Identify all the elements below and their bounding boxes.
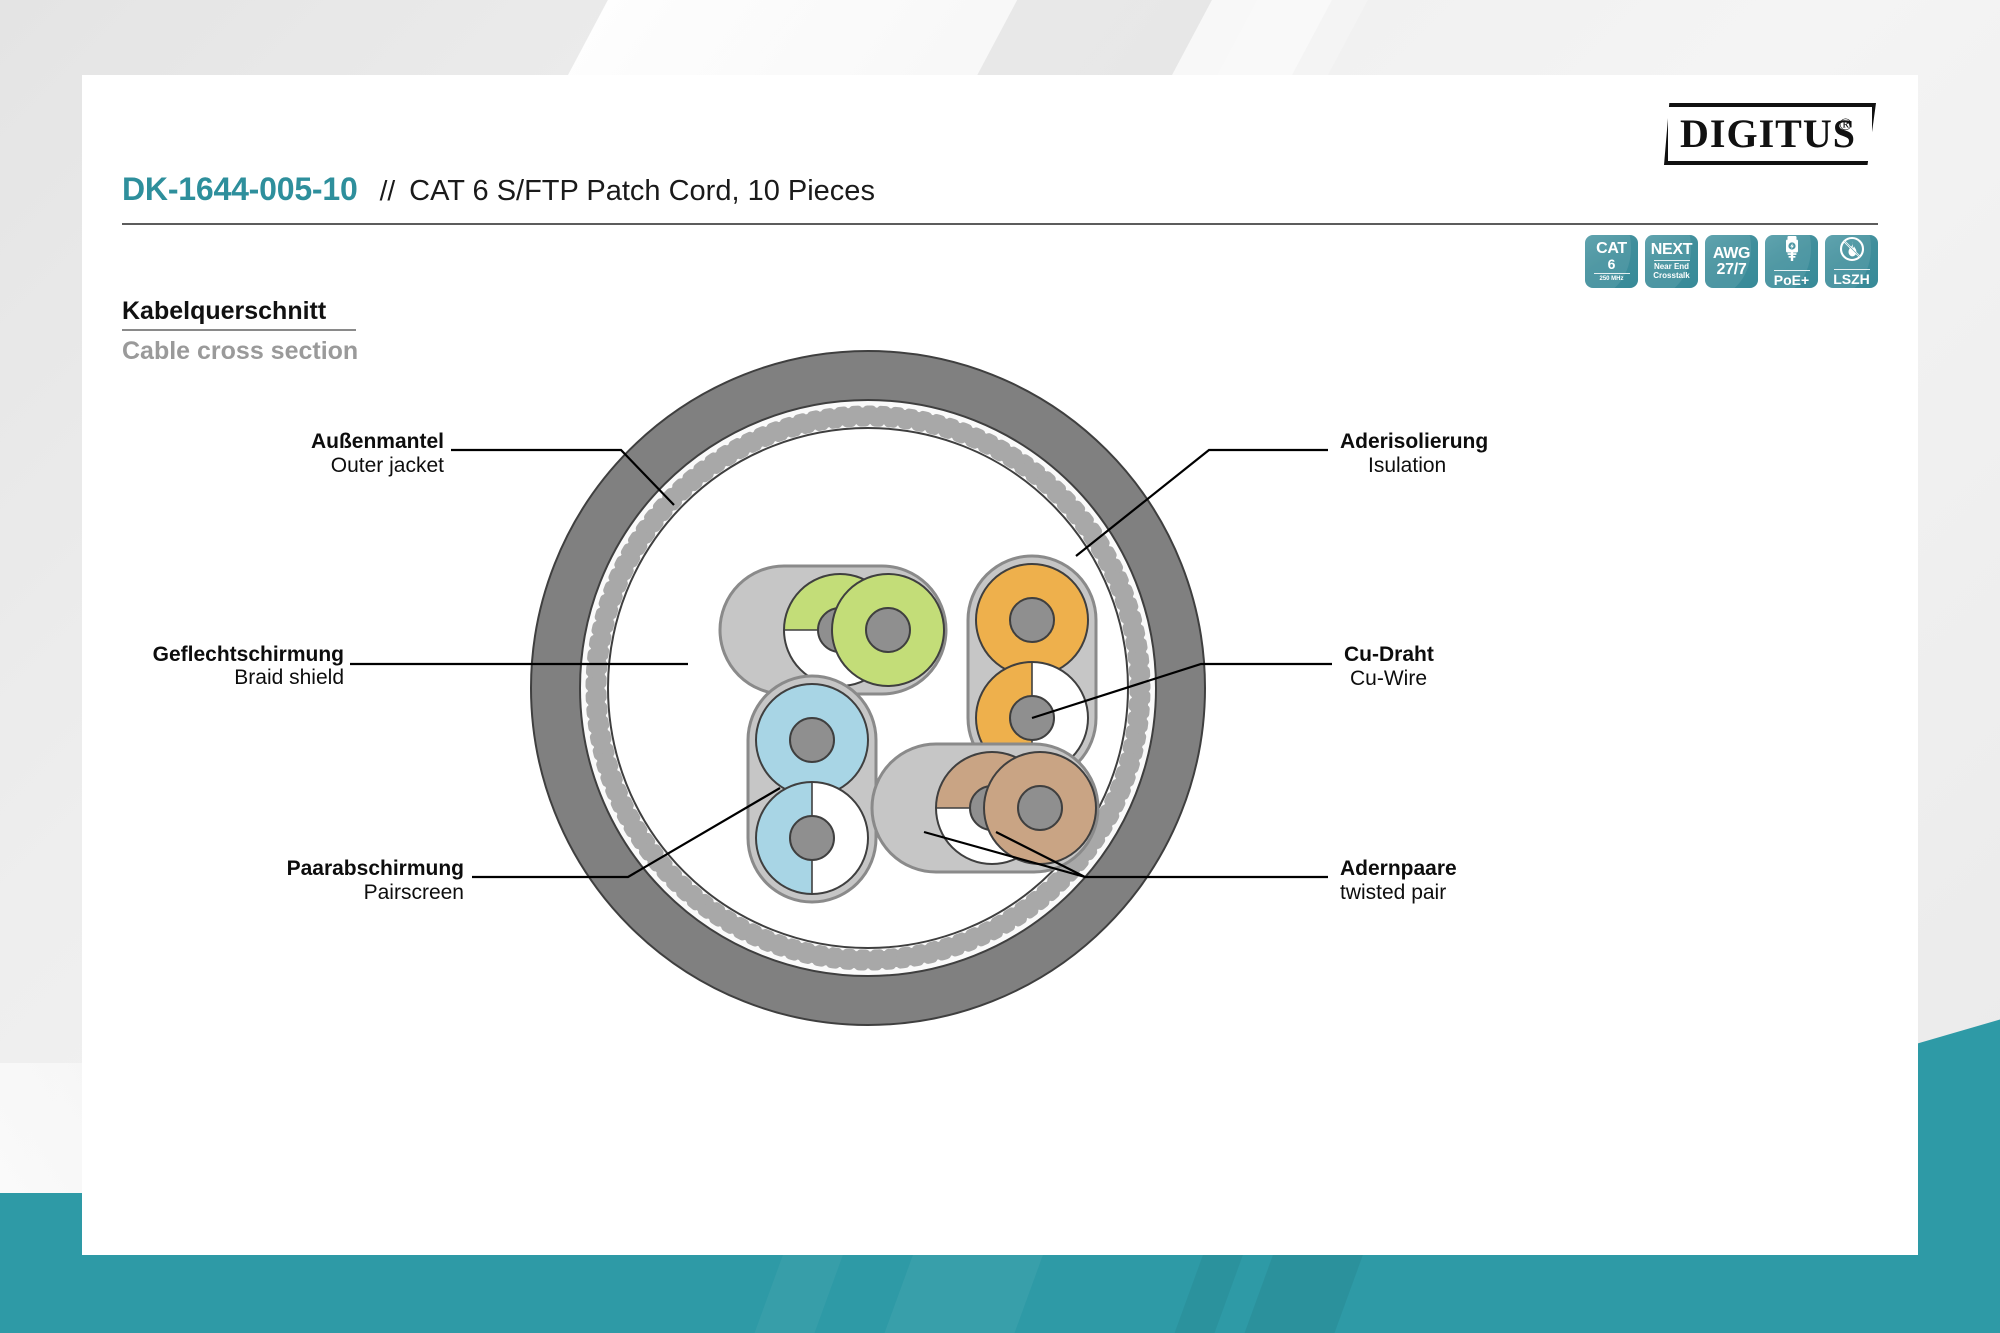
blue-wire-striped [756,782,868,894]
callout-outer-jacket-de: Außenmantel [222,430,444,454]
callout-braid-shield-de: Geflechtschirmung [112,643,344,667]
callout-outer-jacket-en: Outer jacket [222,454,444,478]
callout-cu-wire-de: Cu-Draht [1344,643,1434,667]
callout-braid-shield-en-real: Braid shield [112,666,344,690]
callout-cu-wire: Cu-Draht Cu-Wire [1344,643,1434,690]
green-wire-solid [832,574,944,686]
brown-wire-solid [984,752,1096,864]
datasheet-page: DIGITUS ® DK-1644-005-10 // CAT 6 S/FTP … [82,75,1918,1255]
callout-twisted-pair-de: Adernpaare [1340,857,1457,881]
callout-twisted-pair-en: twisted pair [1340,881,1457,905]
blue-wire-striped-core [790,816,834,860]
orange-wire-solid-core [1010,598,1054,642]
callout-pairscreen: Paarabschirmung Pairscreen [212,857,464,904]
callout-pairscreen-de: Paarabschirmung [212,857,464,881]
blue-wire-solid-core [790,718,834,762]
green-wire-solid-core [866,608,910,652]
callout-insulation: Aderisolierung Isulation [1340,430,1488,477]
orange-wire-solid [976,564,1088,676]
cable-cross-section-diagram [82,75,1918,1255]
callout-insulation-en: Isulation [1368,454,1488,478]
blue-wire-solid [756,684,868,796]
brown-pair-group [872,744,1098,872]
callout-insulation-de: Aderisolierung [1340,430,1488,454]
callout-twisted-pair: Adernpaare twisted pair [1340,857,1457,904]
callout-outer-jacket: Außenmantel Outer jacket [222,430,444,477]
callout-cu-wire-en: Cu-Wire [1350,667,1434,691]
callout-braid-shield: Geflechtschirmung Pairscreen Braid shiel… [112,643,344,690]
callout-pairscreen-en: Pairscreen [212,881,464,905]
brown-wire-solid-core [1018,786,1062,830]
green-pair-group [720,566,946,694]
blue-pair-group [748,676,876,902]
